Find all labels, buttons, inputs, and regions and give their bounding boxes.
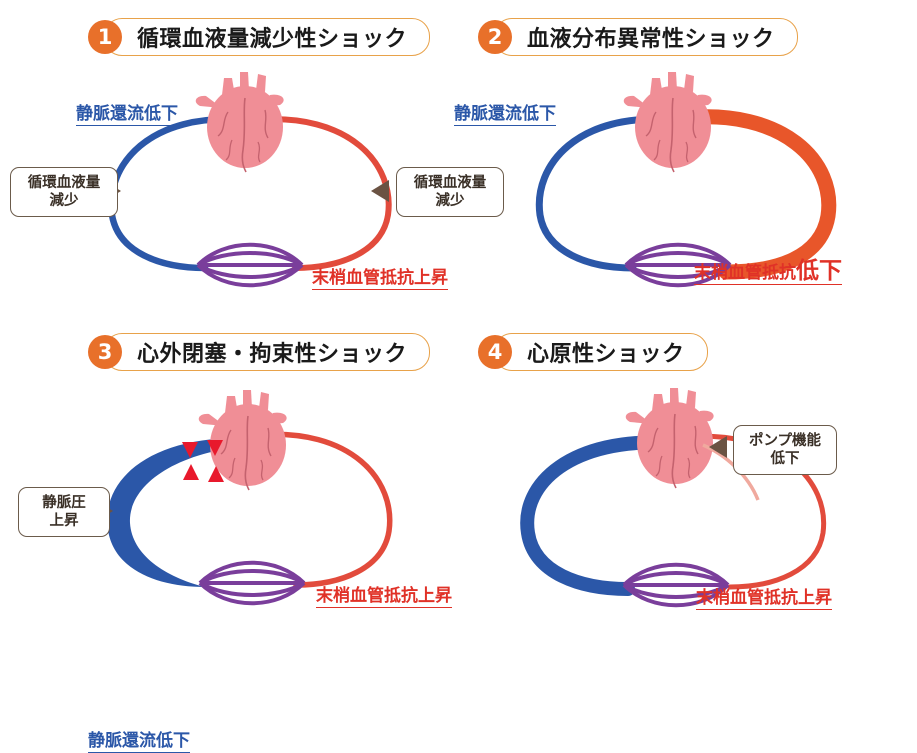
panel-1-callout-right-pointer [371,180,389,202]
panel-4-number-badge: 4 [478,335,512,369]
panel-3-peripheral-resistance-label: 末梢血管抵抗上昇 [316,581,452,608]
panel-3-title-row: 3 心外閉塞・拘束性ショック [88,333,430,371]
panel-3-title-pill: 心外閉塞・拘束性ショック [104,333,430,371]
panel-4-title: 心原性ショック [527,336,685,368]
panel-distributive-shock: 2 血液分布異常性ショック [458,0,917,315]
panel-cardiogenic-shock: 4 心原性ショック [458,315,917,631]
heart-icon [196,72,284,172]
panel-2-title: 血液分布異常性ショック [527,21,775,53]
panel-4-callout-pointer [709,436,727,458]
panel-1-peripheral-resistance-label: 末梢血管抵抗上昇 [312,263,448,290]
panel-2-venous-return-label: 静脈還流低下 [454,99,556,126]
panel-1-callout-right: 循環血液量 減少 [396,167,504,217]
panel-2-peripheral-emphasis: 低下 [796,261,842,282]
panel-4-title-pill: 心原性ショック [494,333,708,371]
panel-hypovolemic-shock: 1 循環血液量減少性ショック [0,0,458,315]
panel-2-title-row: 2 血液分布異常性ショック [478,18,798,56]
panel-4-peripheral-resistance-label: 末梢血管抵抗上昇 [696,583,832,610]
panel-2-number-badge: 2 [478,20,512,54]
panel-3-peripheral-main: 末梢血管抵抗上昇 [316,581,452,606]
shock-types-figure: 1 循環血液量減少性ショック [0,0,917,631]
heart-icon [624,72,712,172]
panel-1-title: 循環血液量減少性ショック [137,21,407,53]
capillary-bed-icon [198,245,302,286]
panel-2-peripheral-resistance-label: 末梢血管抵抗低下 [694,258,842,285]
panel-1-peripheral-main: 末梢血管抵抗上昇 [312,263,448,288]
panel-3-venous-return-label: 静脈還流低下 [88,726,190,753]
panel-4-title-row: 4 心原性ショック [478,333,708,371]
panel-2-peripheral-main: 末梢血管抵抗 [694,258,796,283]
panel-obstructive-shock: 3 心外閉塞・拘束性ショック [0,315,458,631]
panel-1-callout-left: 循環血液量 減少 [10,167,118,217]
panel-2-title-pill: 血液分布異常性ショック [494,18,798,56]
panel-1-venous-return-label: 静脈還流低下 [76,99,178,126]
panel-1-number-badge: 1 [88,20,122,54]
panel-1-title-row: 1 循環血液量減少性ショック [88,18,430,56]
panel-1-title-pill: 循環血液量減少性ショック [104,18,430,56]
panel-4-callout-pump-function: ポンプ機能 低下 [733,425,837,475]
capillary-bed-icon [200,563,304,604]
panel-4-peripheral-main: 末梢血管抵抗上昇 [696,583,832,608]
panel-3-number-badge: 3 [88,335,122,369]
panel-3-title: 心外閉塞・拘束性ショック [137,336,407,368]
panel-3-callout-venous-pressure: 静脈圧 上昇 [18,487,110,537]
